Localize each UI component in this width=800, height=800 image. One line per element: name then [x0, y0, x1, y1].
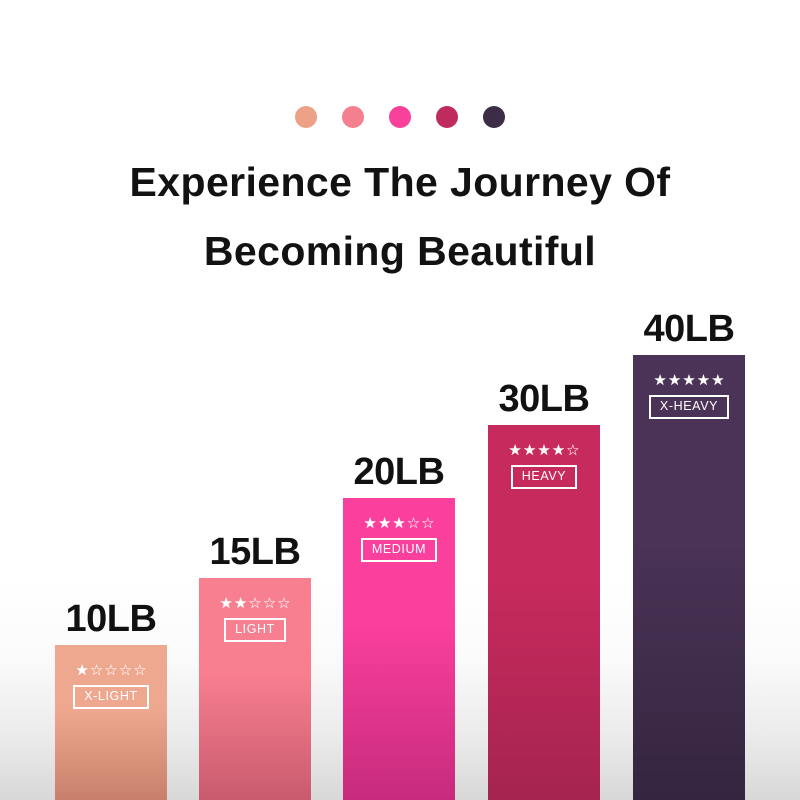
star-rating: ★☆☆☆☆: [75, 663, 146, 678]
resistance-level-badge: X-HEAVY: [649, 395, 729, 419]
bar[interactable]: ★★★☆☆MEDIUM: [343, 498, 455, 800]
star-filled-icon: ★: [219, 596, 232, 611]
bar-content: ★★★★★X-HEAVY: [633, 373, 745, 419]
bar-weight-label: 30LB: [488, 379, 600, 419]
bar[interactable]: ★★★★☆HEAVY: [488, 425, 600, 800]
star-filled-icon: ★: [711, 373, 724, 388]
star-filled-icon: ★: [75, 663, 88, 678]
star-empty-icon: ☆: [104, 663, 117, 678]
star-filled-icon: ★: [653, 373, 666, 388]
bar[interactable]: ★★☆☆☆LIGHT: [199, 578, 311, 800]
star-empty-icon: ☆: [277, 596, 290, 611]
bar-group[interactable]: 10LB★☆☆☆☆X-LIGHT: [55, 645, 167, 800]
star-filled-icon: ★: [392, 516, 405, 531]
bar[interactable]: ★★★★★X-HEAVY: [633, 355, 745, 800]
star-filled-icon: ★: [668, 373, 681, 388]
resistance-level-badge: MEDIUM: [361, 538, 437, 562]
bar-group[interactable]: 15LB★★☆☆☆LIGHT: [199, 578, 311, 800]
star-empty-icon: ☆: [248, 596, 261, 611]
star-rating: ★★★★★: [653, 373, 724, 388]
bar-content: ★★★☆☆MEDIUM: [343, 516, 455, 562]
star-filled-icon: ★: [363, 516, 376, 531]
bar-weight-label: 10LB: [55, 599, 167, 639]
resistance-level-badge: HEAVY: [511, 465, 577, 489]
star-filled-icon: ★: [552, 443, 565, 458]
star-filled-icon: ★: [378, 516, 391, 531]
bar-group[interactable]: 20LB★★★☆☆MEDIUM: [343, 498, 455, 800]
bar-content: ★★★★☆HEAVY: [488, 443, 600, 489]
star-filled-icon: ★: [537, 443, 550, 458]
star-empty-icon: ☆: [133, 663, 146, 678]
star-empty-icon: ☆: [90, 663, 103, 678]
resistance-bar-chart: 10LB★☆☆☆☆X-LIGHT15LB★★☆☆☆LIGHT20LB★★★☆☆M…: [0, 0, 800, 800]
bar-weight-label: 20LB: [343, 452, 455, 492]
star-rating: ★★☆☆☆: [219, 596, 290, 611]
star-filled-icon: ★: [682, 373, 695, 388]
star-empty-icon: ☆: [263, 596, 276, 611]
star-filled-icon: ★: [508, 443, 521, 458]
bar[interactable]: ★☆☆☆☆X-LIGHT: [55, 645, 167, 800]
star-empty-icon: ☆: [119, 663, 132, 678]
infographic-poster: Experience The Journey Of Becoming Beaut…: [0, 0, 800, 800]
bar-weight-label: 15LB: [199, 532, 311, 572]
star-empty-icon: ☆: [407, 516, 420, 531]
bar-content: ★★☆☆☆LIGHT: [199, 596, 311, 642]
star-filled-icon: ★: [234, 596, 247, 611]
star-empty-icon: ☆: [566, 443, 579, 458]
star-filled-icon: ★: [697, 373, 710, 388]
star-rating: ★★★☆☆: [363, 516, 434, 531]
resistance-level-badge: LIGHT: [224, 618, 286, 642]
star-filled-icon: ★: [523, 443, 536, 458]
bar-group[interactable]: 40LB★★★★★X-HEAVY: [633, 355, 745, 800]
bar-group[interactable]: 30LB★★★★☆HEAVY: [488, 425, 600, 800]
bar-content: ★☆☆☆☆X-LIGHT: [55, 663, 167, 709]
bar-weight-label: 40LB: [633, 309, 745, 349]
star-empty-icon: ☆: [421, 516, 434, 531]
star-rating: ★★★★☆: [508, 443, 579, 458]
resistance-level-badge: X-LIGHT: [73, 685, 149, 709]
